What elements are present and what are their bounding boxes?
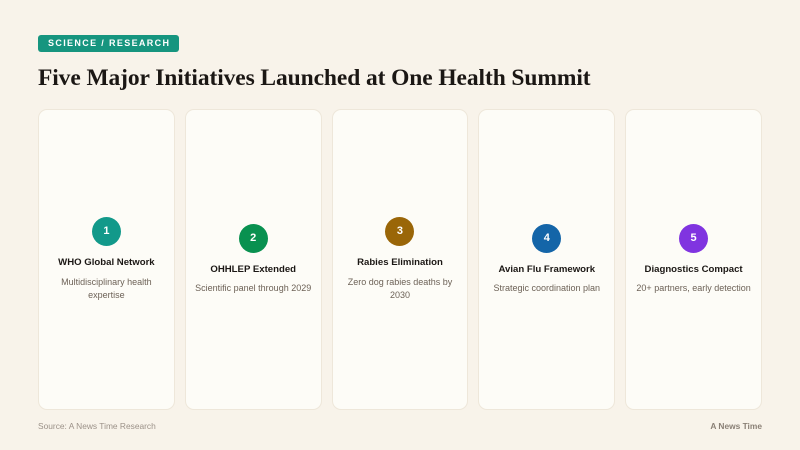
initiative-number-badge: 1 bbox=[92, 217, 121, 246]
initiative-title: WHO Global Network bbox=[58, 257, 154, 270]
initiative-description: Multidisciplinary health expertise bbox=[48, 276, 165, 302]
initiative-description: Scientific panel through 2029 bbox=[195, 282, 311, 295]
initiative-title: Avian Flu Framework bbox=[498, 264, 595, 277]
initiative-card: 1 WHO Global Network Multidisciplinary h… bbox=[38, 109, 175, 410]
initiative-card-list: 1 WHO Global Network Multidisciplinary h… bbox=[38, 109, 762, 410]
initiative-number-badge: 4 bbox=[532, 224, 561, 253]
initiative-description: Zero dog rabies deaths by 2030 bbox=[342, 276, 459, 302]
source-note: Source: A News Time Research bbox=[38, 421, 156, 431]
initiative-description: 20+ partners, early detection bbox=[636, 282, 750, 295]
header: SCIENCE / RESEARCH Five Major Initiative… bbox=[38, 0, 762, 92]
brand-label: A News Time bbox=[710, 421, 762, 431]
initiative-card: 3 Rabies Elimination Zero dog rabies dea… bbox=[332, 109, 469, 410]
initiative-title: OHHLEP Extended bbox=[210, 264, 296, 277]
initiative-number-badge: 2 bbox=[239, 224, 268, 253]
initiative-title: Diagnostics Compact bbox=[645, 264, 743, 277]
initiative-card: 5 Diagnostics Compact 20+ partners, earl… bbox=[625, 109, 762, 410]
initiative-card: 2 OHHLEP Extended Scientific panel throu… bbox=[185, 109, 322, 410]
initiative-title: Rabies Elimination bbox=[357, 257, 443, 270]
initiative-card: 4 Avian Flu Framework Strategic coordina… bbox=[478, 109, 615, 410]
page-title: Five Major Initiatives Launched at One H… bbox=[38, 65, 762, 92]
initiative-description: Strategic coordination plan bbox=[494, 282, 601, 295]
infographic-page: SCIENCE / RESEARCH Five Major Initiative… bbox=[0, 0, 800, 450]
initiative-number-badge: 5 bbox=[679, 224, 708, 253]
category-badge: SCIENCE / RESEARCH bbox=[38, 35, 179, 52]
initiative-number-badge: 3 bbox=[385, 217, 414, 246]
footer: Source: A News Time Research A News Time bbox=[38, 421, 762, 431]
